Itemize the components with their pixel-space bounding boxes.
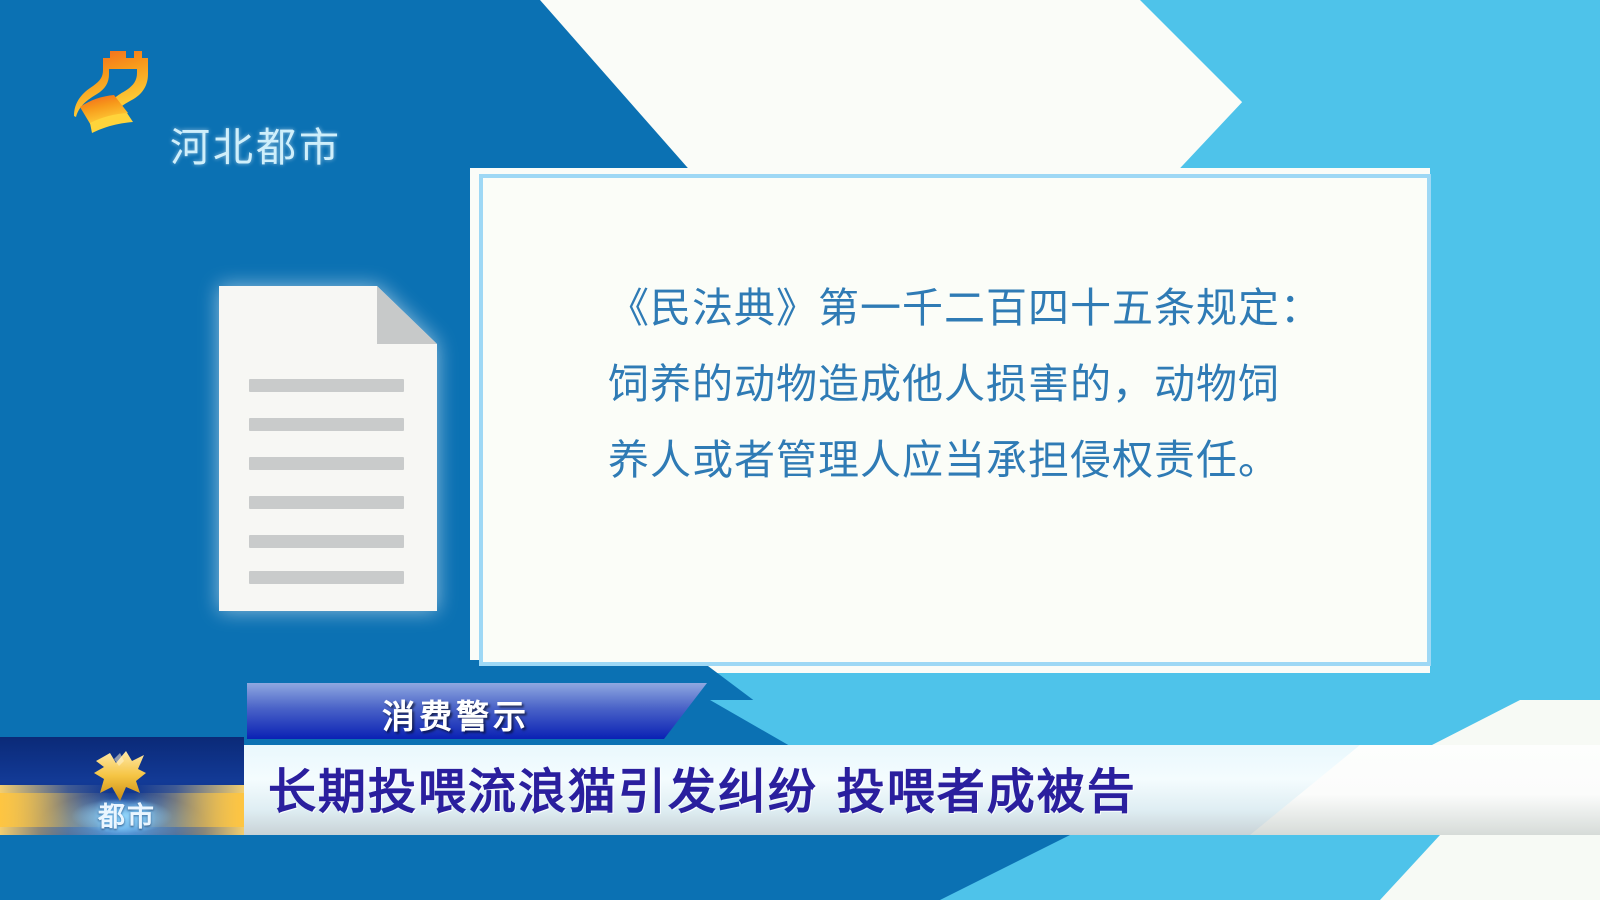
quote-line-2: 饲养的动物造成他人损害的，动物饲 <box>608 346 1338 422</box>
quote-line-1: 《民法典》第一千二百四十五条规定： <box>608 270 1338 346</box>
quote-line-3: 养人或者管理人应当承担侵权责任。 <box>608 422 1338 498</box>
legal-quote-text-block: 《民法典》第一千二百四十五条规定： 饲养的动物造成他人损害的，动物饲 养人或者管… <box>608 270 1338 498</box>
broadcast-screen: 河北都市 《民法典》第一千二百四十五条规定： 饲养的动物造成他人损害的，动物饲 … <box>0 0 1600 900</box>
headline-text: 长期投喂流浪猫引发纠纷 投喂者成被告 <box>268 752 1137 822</box>
great-wall-mark-icon <box>74 45 164 140</box>
kicker-bar: 消费警示 <box>247 683 707 739</box>
background-cyan-right-fill <box>1420 170 1600 770</box>
document-icon <box>219 286 437 611</box>
program-badge: 都市 <box>0 737 244 835</box>
golden-emblem-icon <box>88 749 150 801</box>
program-badge-text: 都市 <box>72 795 182 834</box>
channel-logo: 河北都市 <box>74 45 324 140</box>
legal-quote-card: 《民法典》第一千二百四十五条规定： 饲养的动物造成他人损害的，动物饲 养人或者管… <box>479 174 1431 666</box>
kicker-label: 消费警示 <box>382 690 530 738</box>
channel-logo-text: 河北都市 <box>170 115 342 173</box>
